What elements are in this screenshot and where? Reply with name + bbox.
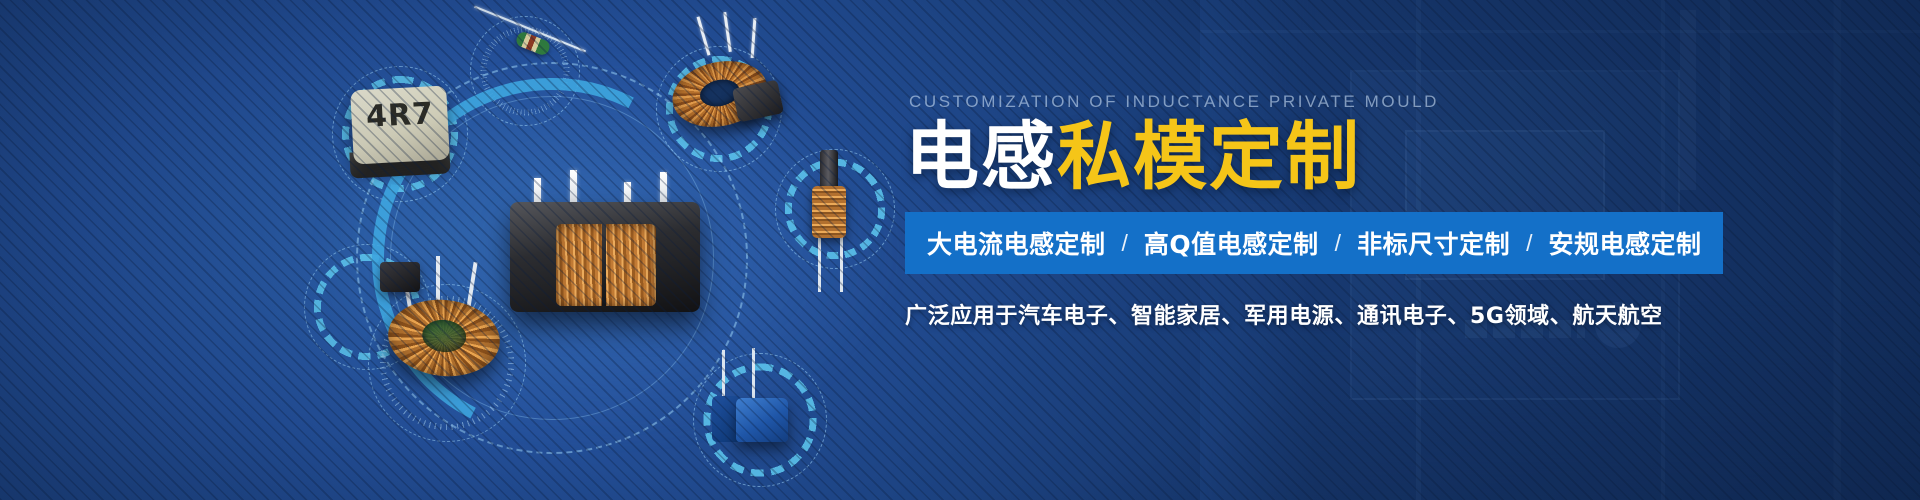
banner-text-block: CUSTOMIZATION OF INDUCTANCE PRIVATE MOUL… <box>905 92 1685 330</box>
feature-item-4: 安规电感定制 <box>1548 225 1701 261</box>
headline-part-gold: 私模定制 <box>1057 114 1361 200</box>
banner-tagline: 广泛应用于汽车电子、智能家居、军用电源、通讯电子、5G领域、航天航空 <box>905 298 1685 330</box>
feature-separator: / <box>1106 230 1144 257</box>
blue-inductor-lead <box>722 350 725 402</box>
promo-banner: 4R7 <box>0 0 1920 500</box>
feature-list-bar: 大电流电感定制 / 高Q值电感定制 / 非标尺寸定制 / 安规电感定制 <box>905 212 1723 274</box>
product-common-mode-choke <box>510 178 700 318</box>
smd-inductor-code-label: 4R7 <box>351 96 449 136</box>
banner-eyebrow-english: CUSTOMIZATION OF INDUCTANCE PRIVATE MOUL… <box>909 92 1685 112</box>
feature-separator: / <box>1319 230 1357 257</box>
blue-inductor-lead <box>752 348 755 400</box>
feature-item-3: 非标尺寸定制 <box>1357 225 1510 261</box>
headline-part-white: 电感 <box>905 114 1057 200</box>
machine-arm-secondary-shape <box>1720 0 1730 140</box>
choke-center-divider <box>602 224 606 306</box>
feature-separator: / <box>1510 230 1548 257</box>
bobbin-lead <box>840 232 843 292</box>
banner-headline: 电感私模定制 <box>905 118 1685 196</box>
bobbin-copper-winding <box>812 186 846 238</box>
feature-item-1: 大电流电感定制 <box>927 225 1106 261</box>
feature-item-2: 高Q值电感定制 <box>1144 225 1319 261</box>
blue-inductor-body <box>736 398 788 442</box>
toroid-black-mount <box>380 262 420 292</box>
toroid-lead <box>436 256 440 302</box>
bobbin-lead <box>818 232 821 292</box>
choke-copper-winding <box>556 224 656 306</box>
